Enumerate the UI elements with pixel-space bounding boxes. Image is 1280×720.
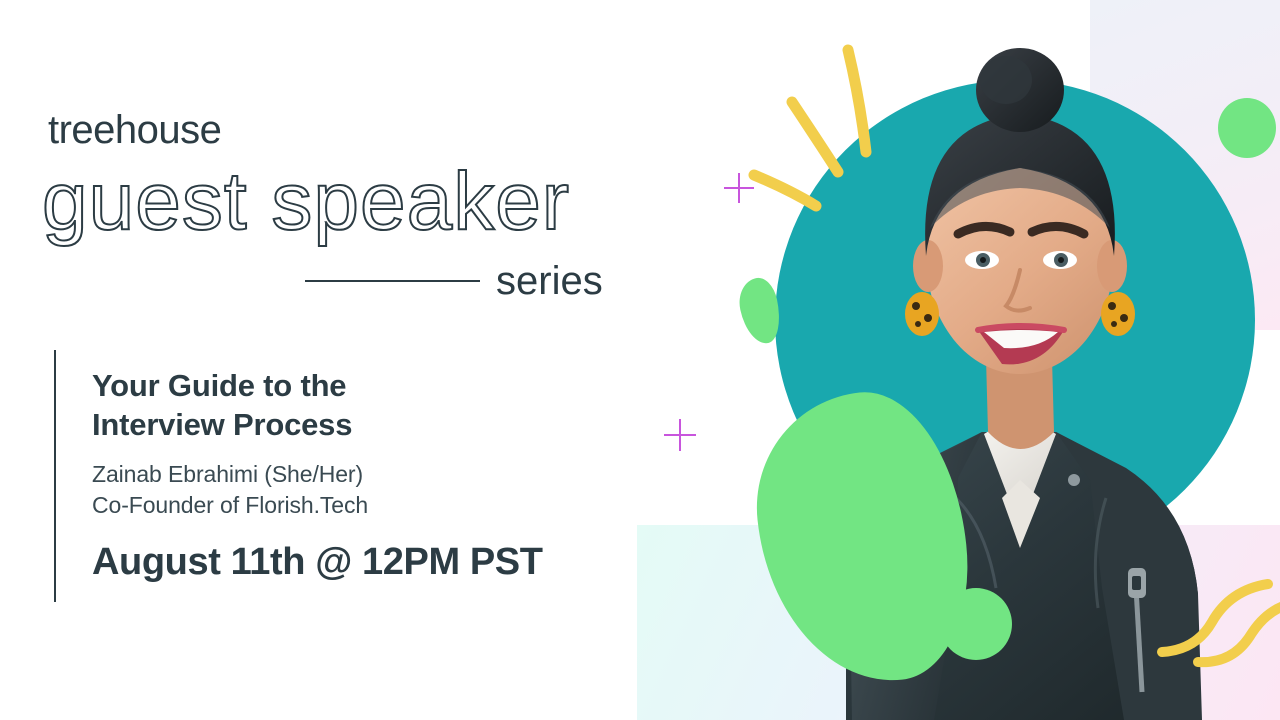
series-label: series <box>496 261 603 301</box>
series-lockup: series <box>305 255 625 307</box>
speaker-role: Co-Founder of Florish.Tech <box>92 490 612 522</box>
session-title-line-1: Your Guide to the <box>92 368 346 403</box>
series-divider <box>305 280 480 282</box>
brand-name: treehouse <box>48 108 221 153</box>
page-title: guest speaker <box>42 155 570 249</box>
session-accent-rule <box>54 350 56 602</box>
plus-mark-icon-lower <box>664 419 696 451</box>
green-circle-shape-top <box>1218 98 1276 158</box>
session-details: Your Guide to the Interview Process Zain… <box>92 366 612 584</box>
promo-slide: treehouse guest speaker series Your Guid… <box>0 0 1280 720</box>
session-title-line-2: Interview Process <box>92 407 352 442</box>
session-date: August 11th @ 12PM PST <box>92 542 612 584</box>
session-title: Your Guide to the Interview Process <box>92 366 612 445</box>
speaker-name: Zainab Ebrahimi (She/Her) <box>92 459 612 491</box>
plus-mark-icon-upper <box>724 173 754 203</box>
green-circle-shape <box>940 588 1012 660</box>
